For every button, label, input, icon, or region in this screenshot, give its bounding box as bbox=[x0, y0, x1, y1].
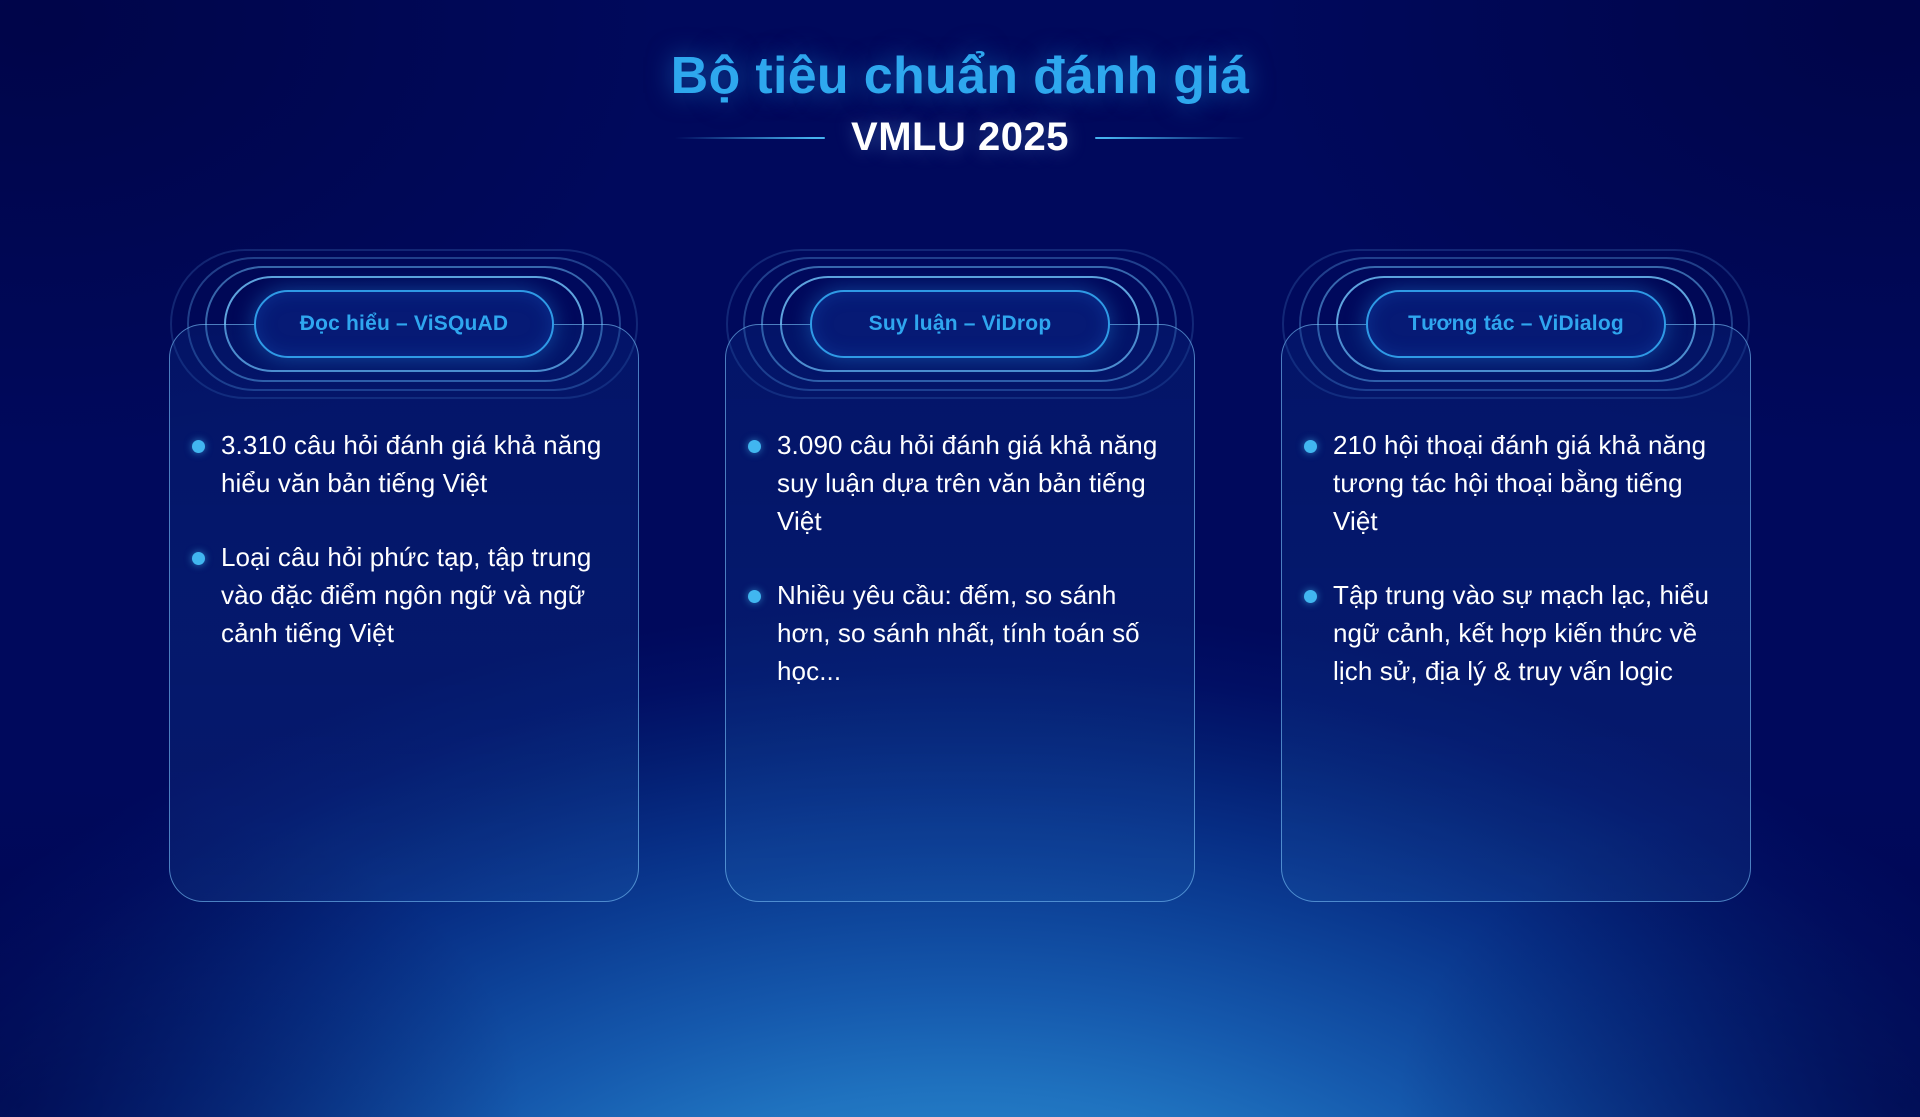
list-item: 3.310 câu hỏi đánh giá khả năng hiểu văn… bbox=[192, 427, 618, 503]
bullet-text: 3.090 câu hỏi đánh giá khả năng suy luận… bbox=[777, 427, 1174, 541]
page-subtitle: VMLU 2025 bbox=[851, 115, 1069, 160]
bullet-dot-icon bbox=[1304, 440, 1317, 453]
subtitle-row: VMLU 2025 bbox=[0, 115, 1920, 160]
card-pill-label: Suy luận – ViDrop bbox=[869, 312, 1052, 336]
slide-canvas: Bộ tiêu chuẩn đánh giá VMLU 2025 3.310 c… bbox=[0, 0, 1920, 1117]
bullet-dot-icon bbox=[192, 440, 205, 453]
bullet-list-1: 3.310 câu hỏi đánh giá khả năng hiểu văn… bbox=[192, 427, 618, 653]
bullet-dot-icon bbox=[192, 552, 205, 565]
bullet-text: Loại câu hỏi phức tạp, tập trung vào đặc… bbox=[221, 539, 618, 653]
bullet-dot-icon bbox=[748, 590, 761, 603]
bullet-text: Nhiều yêu cầu: đếm, so sánh hơn, so sánh… bbox=[777, 577, 1174, 691]
list-item: Nhiều yêu cầu: đếm, so sánh hơn, so sánh… bbox=[748, 577, 1174, 691]
card-pill-2[interactable]: Suy luận – ViDrop bbox=[810, 290, 1110, 358]
list-item: 3.090 câu hỏi đánh giá khả năng suy luận… bbox=[748, 427, 1174, 541]
bullet-text: 3.310 câu hỏi đánh giá khả năng hiểu văn… bbox=[221, 427, 618, 503]
bullet-text: Tập trung vào sự mạch lạc, hiểu ngữ cảnh… bbox=[1333, 577, 1730, 691]
card-pill-3[interactable]: Tương tác – ViDialog bbox=[1366, 290, 1666, 358]
card-pill-label: Tương tác – ViDialog bbox=[1408, 312, 1624, 336]
list-item: Tập trung vào sự mạch lạc, hiểu ngữ cảnh… bbox=[1304, 577, 1730, 691]
bullet-list-2: 3.090 câu hỏi đánh giá khả năng suy luận… bbox=[748, 427, 1174, 691]
slide-header: Bộ tiêu chuẩn đánh giá VMLU 2025 bbox=[0, 46, 1920, 160]
divider-line-right bbox=[1095, 137, 1245, 139]
bullet-dot-icon bbox=[1304, 590, 1317, 603]
list-item: 210 hội thoại đánh giá khả năng tương tá… bbox=[1304, 427, 1730, 541]
divider-line-left bbox=[675, 137, 825, 139]
bullet-text: 210 hội thoại đánh giá khả năng tương tá… bbox=[1333, 427, 1730, 541]
list-item: Loại câu hỏi phức tạp, tập trung vào đặc… bbox=[192, 539, 618, 653]
card-pill-label: Đọc hiểu – ViSQuAD bbox=[300, 312, 509, 336]
card-pill-1[interactable]: Đọc hiểu – ViSQuAD bbox=[254, 290, 554, 358]
card-body-1: 3.310 câu hỏi đánh giá khả năng hiểu văn… bbox=[169, 324, 639, 902]
bullet-dot-icon bbox=[748, 440, 761, 453]
card-body-3: 210 hội thoại đánh giá khả năng tương tá… bbox=[1281, 324, 1751, 902]
card-body-2: 3.090 câu hỏi đánh giá khả năng suy luận… bbox=[725, 324, 1195, 902]
page-title: Bộ tiêu chuẩn đánh giá bbox=[0, 46, 1920, 107]
bullet-list-3: 210 hội thoại đánh giá khả năng tương tá… bbox=[1304, 427, 1730, 691]
